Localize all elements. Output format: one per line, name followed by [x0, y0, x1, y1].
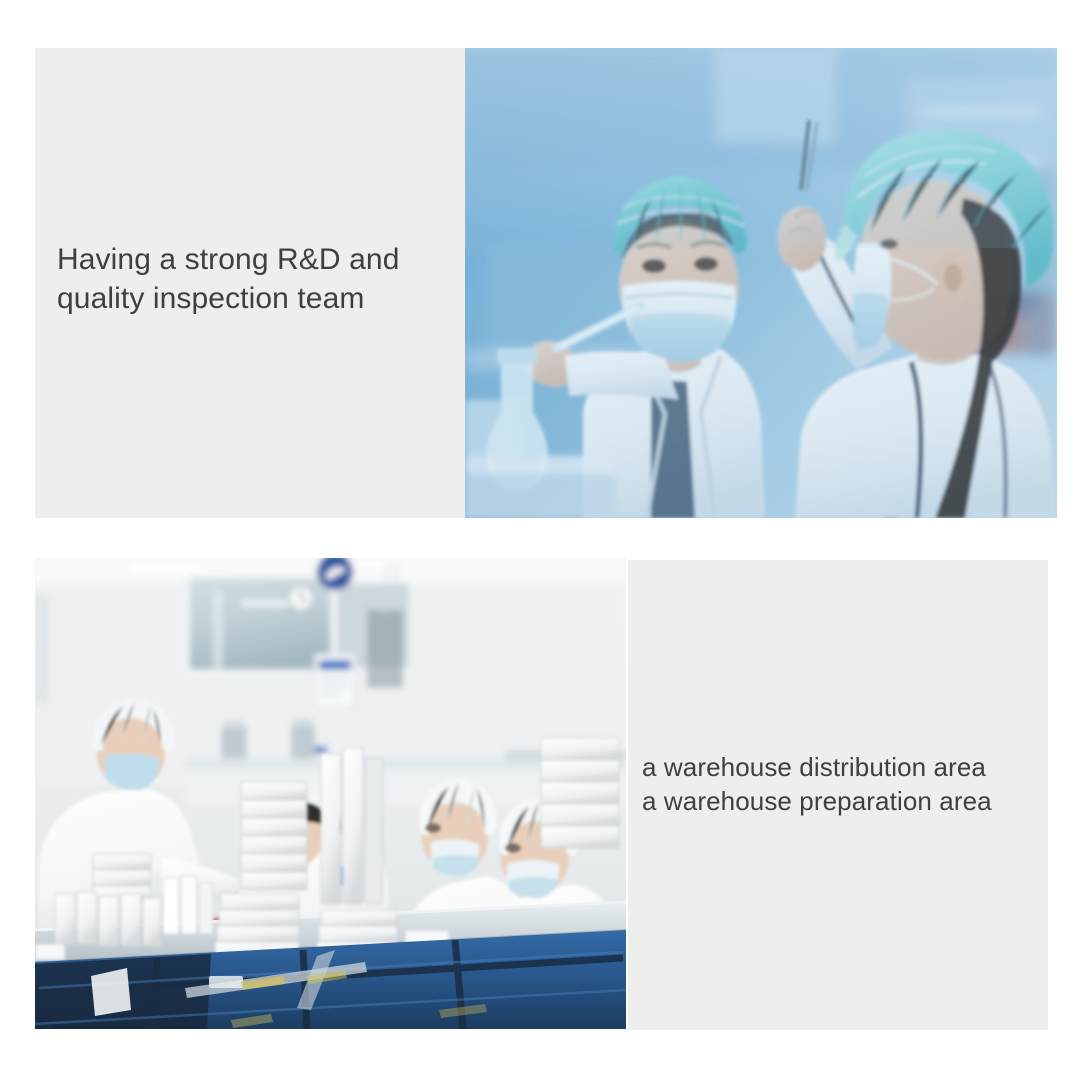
caption-panel-top: Having a strong R&D and quality inspecti…: [35, 48, 465, 518]
section-warehouse: a warehouse distribution area a warehous…: [35, 558, 1048, 1030]
caption-text-bottom: a warehouse distribution area a warehous…: [642, 750, 1052, 818]
lab-rd-quality-inspection-photo: [465, 48, 1057, 518]
section-rd-quality: Having a strong R&D and quality inspecti…: [35, 48, 1057, 518]
caption-bottom-line-2: a warehouse preparation area: [642, 784, 1052, 818]
caption-bottom-line-1: a warehouse distribution area: [642, 750, 1052, 784]
caption-text-top: Having a strong R&D and quality inspecti…: [57, 240, 457, 318]
warehouse-packing-area-photo: [35, 558, 626, 1029]
caption-top-line-2: quality inspection team: [57, 279, 457, 318]
caption-top-line-1: Having a strong R&D and: [57, 240, 457, 279]
caption-panel-bottom: a warehouse distribution area a warehous…: [628, 560, 1048, 1030]
